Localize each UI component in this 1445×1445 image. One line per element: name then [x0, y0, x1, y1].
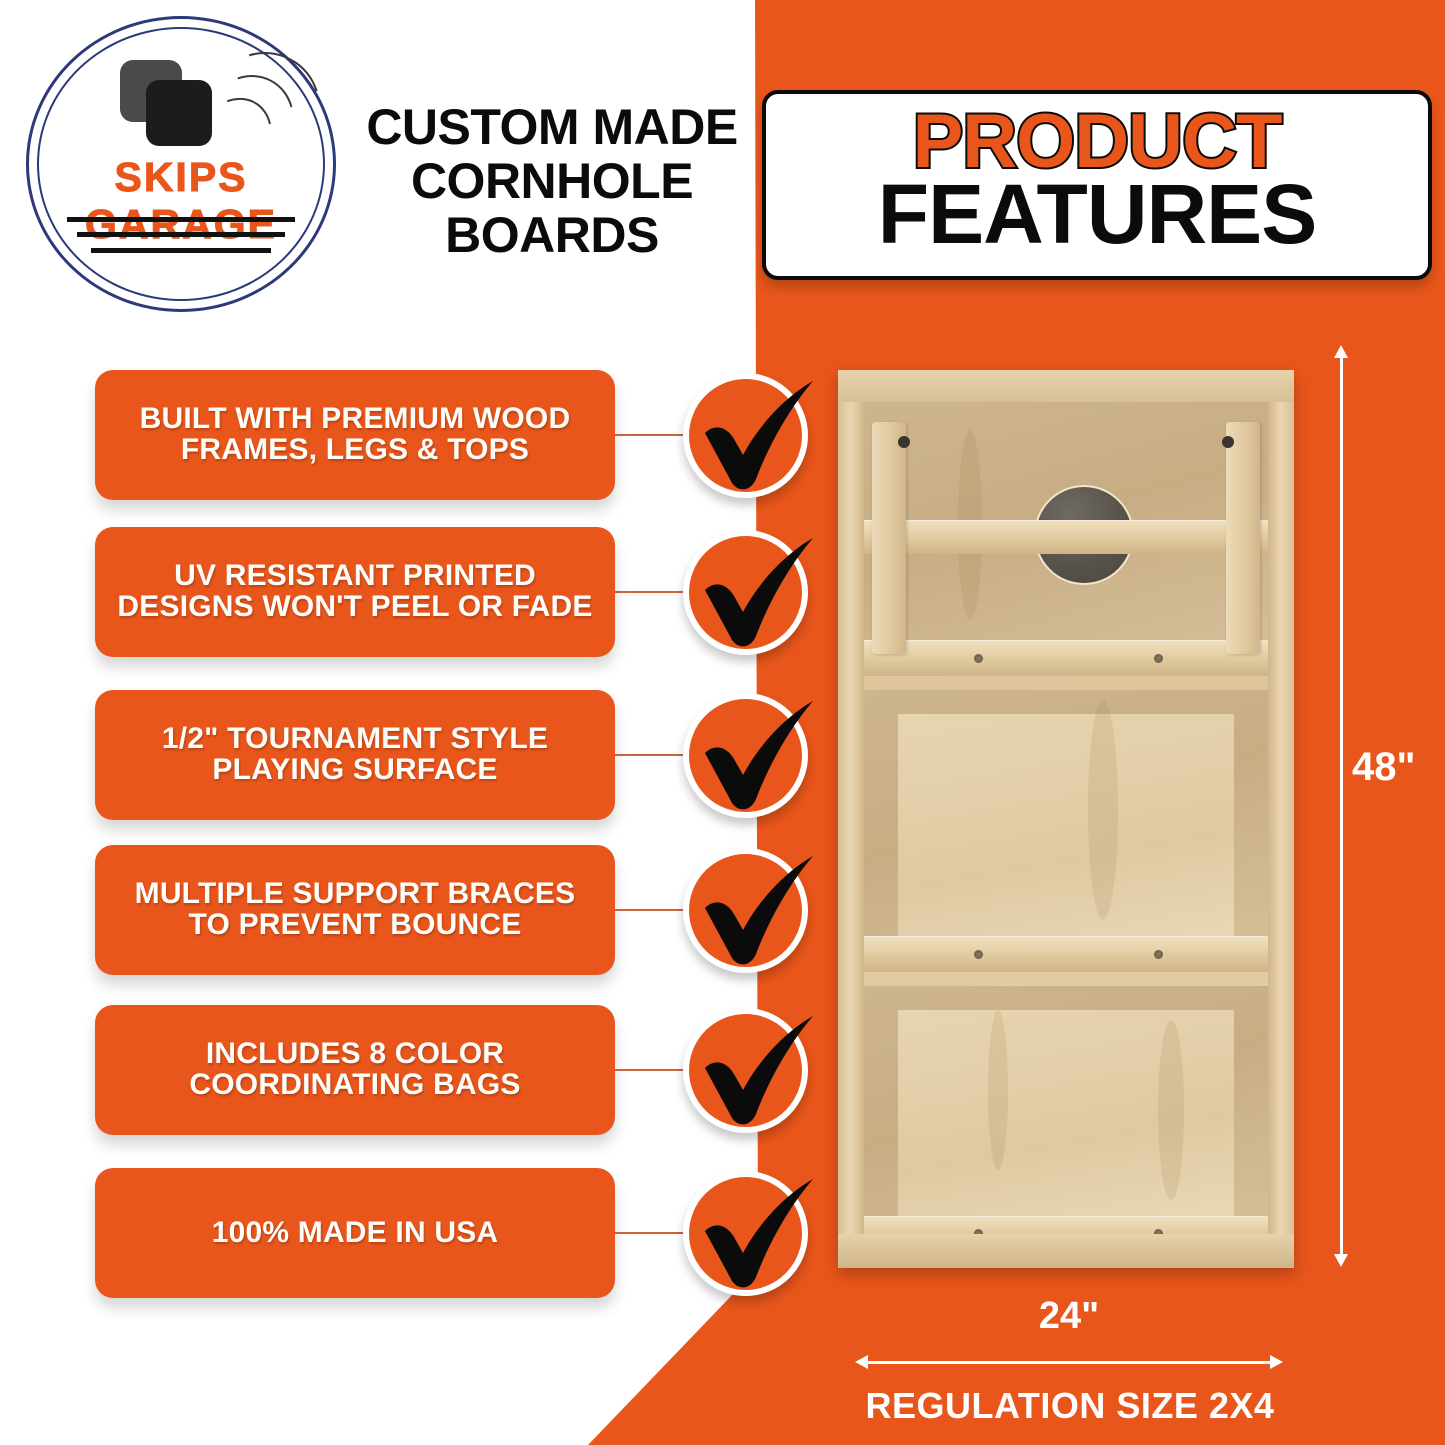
- check-icon-3: [683, 693, 808, 818]
- page-title: CUSTOM MADE CORNHOLE BOARDS: [352, 100, 752, 262]
- frame-rail-top: [838, 370, 1294, 402]
- screw-head: [1154, 654, 1163, 663]
- logo-rule-2: [77, 232, 285, 237]
- feature-pill-2: UV RESISTANT PRINTED DESIGNS WON'T PEEL …: [95, 527, 615, 657]
- cornhole-board-photo: [838, 370, 1294, 1268]
- screw-head: [1154, 950, 1163, 959]
- product-features-banner: PRODUCT FEATURES: [762, 90, 1432, 280]
- logo-rule-3: [91, 248, 271, 253]
- screw-head: [974, 654, 983, 663]
- feature-row-3: 1/2" TOURNAMENT STYLE PLAYING SURFACE: [0, 690, 760, 820]
- feature-label-3: 1/2" TOURNAMENT STYLE PLAYING SURFACE: [95, 724, 615, 785]
- arrow-down-icon: [1334, 1254, 1348, 1267]
- feature-pill-4: MULTIPLE SUPPORT BRACES TO PREVENT BOUNC…: [95, 845, 615, 975]
- leg-bolt: [1222, 436, 1234, 448]
- wood-grain-mark: [1158, 1020, 1184, 1200]
- width-dimension-label: 24": [855, 1295, 1283, 1338]
- arrow-right-icon: [1270, 1355, 1283, 1369]
- check-icon-glyph: [677, 518, 829, 670]
- leg-bolt: [898, 436, 910, 448]
- check-icon-6: [683, 1171, 808, 1296]
- feature-row-2: UV RESISTANT PRINTED DESIGNS WON'T PEEL …: [0, 527, 760, 657]
- feature-row-5: INCLUDES 8 COLOR COORDINATING BAGS: [0, 1005, 760, 1135]
- folding-leg-left: [872, 422, 906, 654]
- board-face-middle: [898, 714, 1234, 950]
- check-icon-glyph: [677, 836, 829, 988]
- width-dimension-arrow: [855, 1355, 1283, 1369]
- feature-pill-6: 100% MADE IN USA: [95, 1168, 615, 1298]
- feature-label-4: MULTIPLE SUPPORT BRACES TO PREVENT BOUNC…: [95, 879, 615, 940]
- feature-pill-5: INCLUDES 8 COLOR COORDINATING BAGS: [95, 1005, 615, 1135]
- support-brace-1: [864, 520, 1268, 554]
- check-icon-glyph: [677, 1159, 829, 1311]
- feature-row-4: MULTIPLE SUPPORT BRACES TO PREVENT BOUNC…: [0, 845, 760, 975]
- frame-rail-bottom: [838, 1234, 1294, 1268]
- check-icon-2: [683, 530, 808, 655]
- feature-pill-3: 1/2" TOURNAMENT STYLE PLAYING SURFACE: [95, 690, 615, 820]
- feature-label-6: 100% MADE IN USA: [196, 1218, 515, 1249]
- wood-grain-mark: [1088, 700, 1118, 920]
- height-dimension-label: 48": [1352, 745, 1415, 790]
- dimension-shaft: [1340, 354, 1343, 1258]
- feature-label-5: INCLUDES 8 COLOR COORDINATING BAGS: [95, 1039, 615, 1100]
- regulation-size-note: REGULATION SIZE 2X4: [820, 1385, 1320, 1427]
- banner-line-features: FEATURES: [766, 175, 1428, 255]
- dimension-shaft: [864, 1361, 1274, 1364]
- support-brace-3: [864, 936, 1268, 972]
- feature-label-1: BUILT WITH PREMIUM WOOD FRAMES, LEGS & T…: [95, 404, 615, 465]
- wood-grain-mark: [988, 1010, 1008, 1170]
- check-icon-4: [683, 848, 808, 973]
- check-icon-glyph: [677, 996, 829, 1148]
- feature-row-1: BUILT WITH PREMIUM WOOD FRAMES, LEGS & T…: [0, 370, 760, 500]
- feature-pill-1: BUILT WITH PREMIUM WOOD FRAMES, LEGS & T…: [95, 370, 615, 500]
- check-icon-1: [683, 373, 808, 498]
- screw-head: [974, 950, 983, 959]
- folding-leg-right: [1226, 422, 1260, 654]
- check-icon-glyph: [677, 681, 829, 833]
- support-brace-2: [864, 640, 1268, 676]
- feature-label-2: UV RESISTANT PRINTED DESIGNS WON'T PEEL …: [95, 561, 615, 622]
- frame-rail-left: [838, 370, 864, 1268]
- frame-rail-right: [1268, 370, 1294, 1268]
- logo-rule-1: [67, 217, 295, 222]
- check-icon-glyph: [677, 361, 829, 513]
- feature-row-6: 100% MADE IN USA: [0, 1168, 760, 1298]
- brand-logo: SKIPS GARAGE: [20, 12, 342, 312]
- check-icon-5: [683, 1008, 808, 1133]
- height-dimension-arrow: [1334, 345, 1348, 1267]
